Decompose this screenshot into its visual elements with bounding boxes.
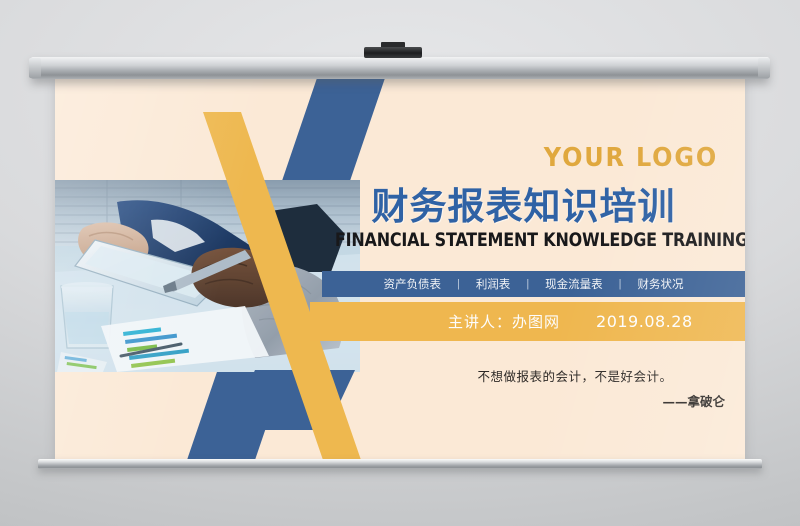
casing-end-right [758, 58, 770, 78]
topic-nav-bar: 资产负债表 | 利润表 | 现金流量表 | 财务状况 [322, 271, 745, 297]
page-subtitle: FINANCIAL STATEMENT KNOWLEDGE TRAINING [335, 230, 712, 251]
projector-screen-casing [31, 57, 769, 79]
nav-separator: | [457, 278, 460, 290]
event-date: 2019.08.28 [596, 312, 693, 331]
nav-item-income-statement[interactable]: 利润表 [476, 276, 511, 292]
casing-end-left [29, 58, 41, 78]
nav-separator: | [619, 278, 622, 290]
quote-attribution: ——拿破仑 [425, 391, 737, 410]
nav-item-balance-sheet[interactable]: 资产负债表 [383, 276, 441, 292]
slide-stage: YOUR LOGO 财务报表知识培训 FINANCIAL STATEMENT K… [0, 0, 800, 526]
ceiling-mount-icon [364, 47, 422, 58]
screen-bottom-weight-bar [38, 459, 762, 469]
nav-item-financial-condition[interactable]: 财务状况 [638, 276, 684, 292]
nav-item-cash-flow[interactable]: 现金流量表 [545, 276, 603, 292]
page-title: 财务报表知识培训 [327, 176, 720, 230]
nav-separator: | [526, 278, 529, 290]
speaker-label: 主讲人：办图网 [448, 311, 560, 332]
quote-text: 不想做报表的会计，不是好会计。 [425, 366, 725, 385]
projection-screen: YOUR LOGO 财务报表知识培训 FINANCIAL STATEMENT K… [55, 78, 745, 460]
speaker-date-bar: 主讲人：办图网 2019.08.28 [310, 302, 745, 341]
logo-text: YOUR LOGO [108, 143, 718, 173]
